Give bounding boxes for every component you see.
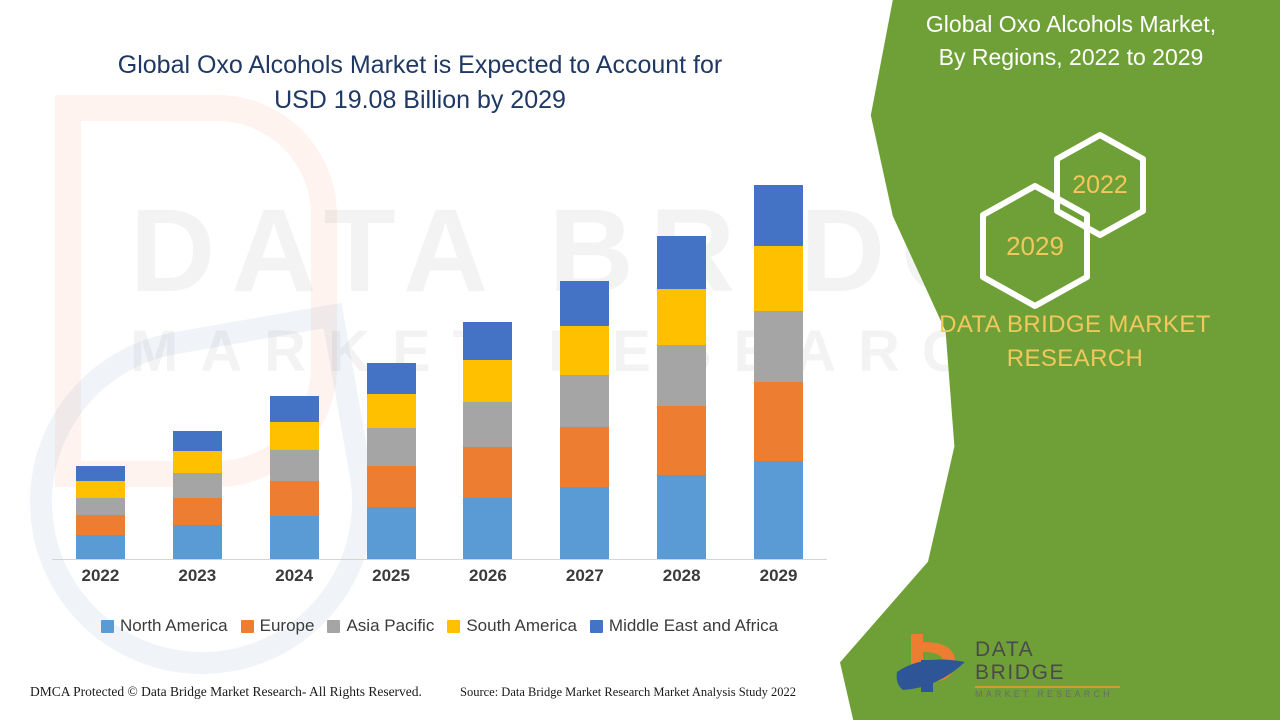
bar-segment bbox=[173, 451, 222, 473]
hexagon-badge-start-label: 2022 bbox=[1072, 171, 1128, 200]
x-axis-label: 2025 bbox=[343, 566, 440, 586]
bar-segment bbox=[76, 498, 125, 516]
stacked-bar[interactable] bbox=[367, 363, 416, 559]
legend-label: Asia Pacific bbox=[346, 616, 434, 636]
stacked-bar[interactable] bbox=[173, 431, 222, 559]
company-logo: DATA BRIDGE MARKET RESEARCH bbox=[893, 632, 1118, 698]
legend-label: North America bbox=[120, 616, 228, 636]
footer-source: Source: Data Bridge Market Research Mark… bbox=[460, 685, 796, 700]
hexagon-badge-end-label: 2029 bbox=[1006, 231, 1064, 262]
bar-segment bbox=[754, 185, 803, 246]
x-axis-label: 2022 bbox=[52, 566, 149, 586]
bar-segment bbox=[463, 322, 512, 360]
legend-item[interactable]: North America bbox=[101, 616, 228, 636]
legend-item[interactable]: Europe bbox=[241, 616, 315, 636]
bar-column bbox=[343, 150, 440, 559]
x-axis-line bbox=[52, 559, 827, 560]
bar-segment bbox=[754, 246, 803, 311]
bar-segment bbox=[657, 345, 706, 406]
page-title-line-2: USD 19.08 Billion by 2029 bbox=[70, 83, 770, 118]
bar-segment bbox=[76, 515, 125, 535]
bar-segment bbox=[657, 289, 706, 345]
bar-column bbox=[52, 150, 149, 559]
panel-brand-text: DATA BRIDGE MARKET RESEARCH bbox=[840, 308, 1280, 376]
panel-brand-line-2: RESEARCH bbox=[900, 342, 1250, 376]
bar-segment bbox=[76, 481, 125, 497]
x-axis-label: 2029 bbox=[730, 566, 827, 586]
x-axis-labels: 20222023202420252026202720282029 bbox=[52, 566, 827, 586]
logo-name: DATA BRIDGE bbox=[975, 638, 1120, 684]
bar-segment bbox=[560, 375, 609, 428]
stacked-bar[interactable] bbox=[560, 281, 609, 559]
chart-plot-area bbox=[52, 150, 827, 560]
panel-title-line-1: Global Oxo Alcohols Market, bbox=[886, 8, 1256, 41]
logo-divider bbox=[975, 686, 1120, 688]
bar-column bbox=[730, 150, 827, 559]
bar-column bbox=[536, 150, 633, 559]
bar-segment bbox=[657, 406, 706, 474]
bar-segment bbox=[754, 311, 803, 382]
stacked-bar[interactable] bbox=[657, 236, 706, 559]
chart-legend: North AmericaEuropeAsia PacificSouth Ame… bbox=[52, 616, 827, 636]
legend-item[interactable]: Asia Pacific bbox=[327, 616, 434, 636]
stacked-bar[interactable] bbox=[270, 396, 319, 559]
legend-swatch-icon bbox=[241, 620, 254, 633]
x-axis-label: 2024 bbox=[246, 566, 343, 586]
legend-swatch-icon bbox=[590, 620, 603, 633]
bar-segment bbox=[76, 466, 125, 481]
page-title: Global Oxo Alcohols Market is Expected t… bbox=[70, 48, 770, 117]
x-axis-label: 2023 bbox=[149, 566, 246, 586]
hexagon-badges: 2022 2029 bbox=[840, 128, 1280, 298]
legend-swatch-icon bbox=[101, 620, 114, 633]
logo-mark-icon bbox=[893, 632, 971, 698]
bar-segment bbox=[173, 525, 222, 559]
bar-segment bbox=[270, 422, 319, 451]
legend-item[interactable]: South America bbox=[447, 616, 577, 636]
bar-segment bbox=[560, 487, 609, 559]
bar-segment bbox=[173, 498, 222, 525]
bar-segment bbox=[173, 431, 222, 452]
panel-title-line-2: By Regions, 2022 to 2029 bbox=[886, 41, 1256, 74]
logo-wordmark: DATA BRIDGE MARKET RESEARCH bbox=[975, 638, 1120, 700]
bar-segment bbox=[270, 516, 319, 559]
bar-segment bbox=[270, 396, 319, 422]
bar-group bbox=[52, 150, 827, 559]
legend-label: Middle East and Africa bbox=[609, 616, 778, 636]
bar-segment bbox=[367, 394, 416, 428]
bar-segment bbox=[173, 473, 222, 497]
bar-column bbox=[633, 150, 730, 559]
legend-label: Europe bbox=[260, 616, 315, 636]
bar-segment bbox=[367, 363, 416, 395]
bar-column bbox=[246, 150, 343, 559]
legend-label: South America bbox=[466, 616, 577, 636]
x-axis-label: 2026 bbox=[440, 566, 537, 586]
bar-segment bbox=[657, 475, 706, 560]
bar-segment bbox=[560, 281, 609, 326]
bar-segment bbox=[754, 461, 803, 559]
stacked-bar[interactable] bbox=[463, 322, 512, 559]
bar-segment bbox=[270, 481, 319, 516]
panel-brand-line-1: DATA BRIDGE MARKET bbox=[900, 308, 1250, 342]
stacked-bar-chart bbox=[52, 150, 827, 560]
bar-segment bbox=[657, 236, 706, 289]
bar-segment bbox=[367, 507, 416, 559]
bar-segment bbox=[463, 447, 512, 497]
logo-tagline: MARKET RESEARCH bbox=[975, 690, 1120, 700]
legend-swatch-icon bbox=[447, 620, 460, 633]
bar-segment bbox=[754, 382, 803, 461]
bar-segment bbox=[76, 535, 125, 559]
bar-column bbox=[440, 150, 537, 559]
hexagon-badge-end: 2029 bbox=[975, 180, 1095, 312]
bar-column bbox=[149, 150, 246, 559]
bar-segment bbox=[463, 402, 512, 447]
bar-segment bbox=[463, 498, 512, 559]
panel-title: Global Oxo Alcohols Market, By Regions, … bbox=[840, 8, 1280, 73]
bar-segment bbox=[463, 360, 512, 402]
legend-item[interactable]: Middle East and Africa bbox=[590, 616, 778, 636]
stacked-bar[interactable] bbox=[754, 185, 803, 559]
bar-segment bbox=[560, 326, 609, 374]
infographic-canvas: DATA BRIDGE MARKET RESEARCH Global Oxo A… bbox=[0, 0, 1280, 720]
footer-copyright: DMCA Protected © Data Bridge Market Rese… bbox=[30, 684, 422, 700]
legend-swatch-icon bbox=[327, 620, 340, 633]
bar-segment bbox=[367, 428, 416, 465]
bar-segment bbox=[367, 466, 416, 508]
stacked-bar[interactable] bbox=[76, 466, 125, 559]
bar-segment bbox=[560, 427, 609, 486]
x-axis-label: 2027 bbox=[536, 566, 633, 586]
x-axis-label: 2028 bbox=[633, 566, 730, 586]
page-title-line-1: Global Oxo Alcohols Market is Expected t… bbox=[70, 48, 770, 83]
bar-segment bbox=[270, 450, 319, 481]
